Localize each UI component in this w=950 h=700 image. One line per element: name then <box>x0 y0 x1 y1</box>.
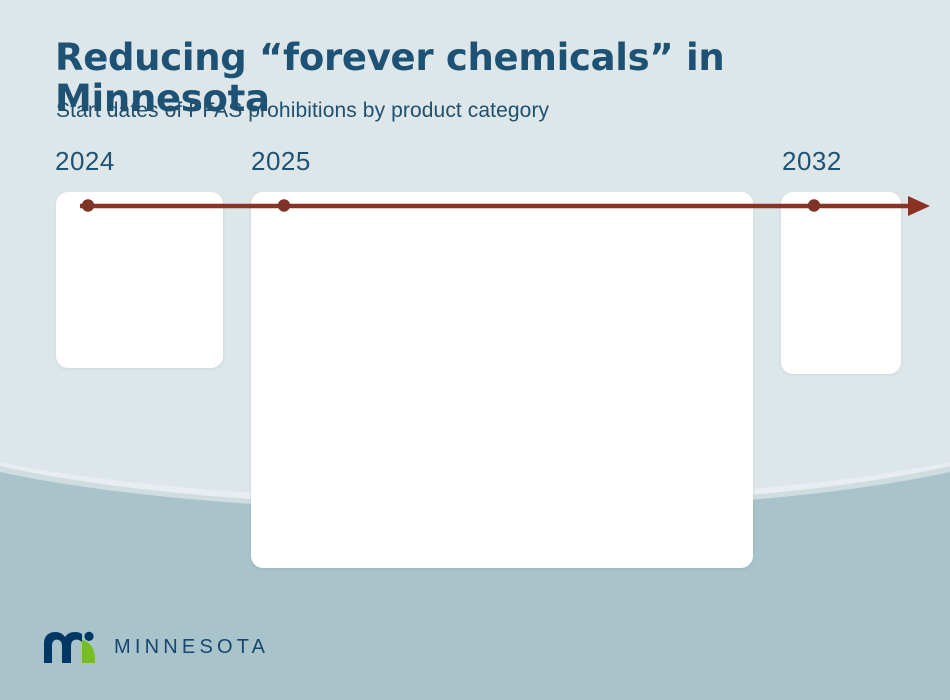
timeline-axis <box>0 190 950 222</box>
page-subtitle: Start dates of PFAS prohibitions by prod… <box>56 99 856 123</box>
timeline-marker-2032 <box>808 199 820 211</box>
footer-wordmark: MINNESOTA <box>114 636 269 659</box>
timeline-marker-2024 <box>82 199 94 211</box>
year-label-2024: 2024 <box>55 146 115 177</box>
card-2025 <box>251 192 753 568</box>
year-label-2032: 2032 <box>782 146 842 177</box>
footer: MINNESOTA <box>42 630 269 664</box>
timeline-marker-2025 <box>278 199 290 211</box>
year-label-2025: 2025 <box>251 146 311 177</box>
minnesota-mn-logo <box>42 630 98 664</box>
